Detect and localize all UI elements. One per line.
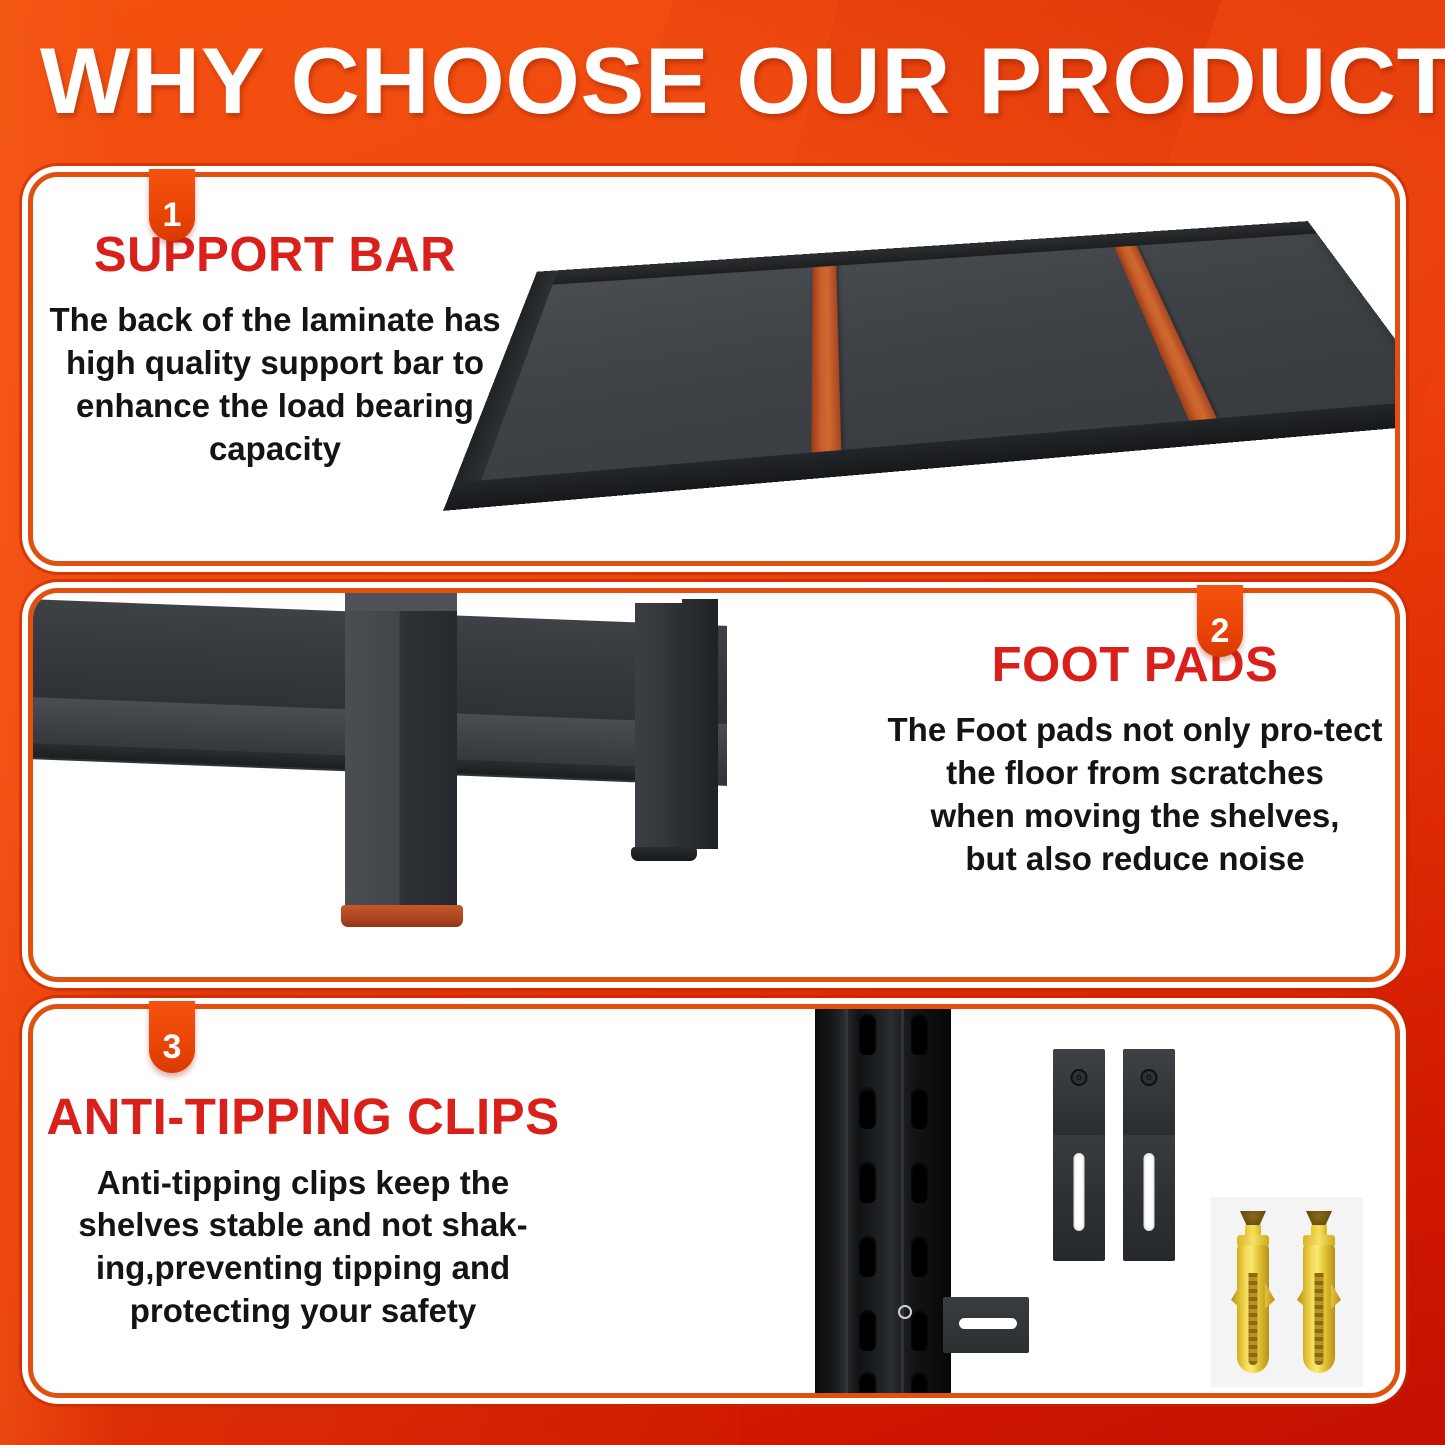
- feature-text-foot-pads: FOOT PADS The Foot pads not only pro-tec…: [855, 640, 1415, 881]
- feature-body-3-line-1: Anti-tipping clips keep the: [78, 1162, 527, 1205]
- anchor-screw-thread: [1315, 1273, 1324, 1365]
- product-image-foot-pads: [33, 593, 827, 977]
- feature-body-1-line-2: high quality support bar to: [49, 342, 500, 385]
- shelf-board-front-lip: [443, 400, 1395, 511]
- foot-pad-front: [341, 905, 463, 927]
- shelf-board: [503, 177, 1395, 561]
- product-image-anti-tipping-clips: [793, 1009, 1395, 1393]
- feature-body-1-line-3: enhance the load bearing: [49, 385, 500, 428]
- post-groove-right: [901, 1009, 904, 1393]
- feature-text-anti-tipping-clips: ANTI-TIPPING CLIPS Anti-tipping clips ke…: [28, 1090, 578, 1333]
- clip-screw-hole-icon: [1071, 1069, 1088, 1086]
- post-slot: [859, 1087, 876, 1129]
- anti-tipping-clip-right: [1123, 1131, 1175, 1261]
- anti-tipping-clip-left: [1053, 1131, 1105, 1261]
- post-slot: [859, 1371, 876, 1393]
- post-slot: [911, 1161, 928, 1203]
- feature-title-3: ANTI-TIPPING CLIPS: [46, 1090, 559, 1144]
- feature-body-3: Anti-tipping clips keep the shelves stab…: [78, 1162, 527, 1334]
- feature-body-2-line-3: when moving the shelves,: [888, 795, 1383, 838]
- feature-body-1: The back of the laminate has high qualit…: [49, 299, 500, 471]
- anchor-wing-left: [1231, 1283, 1241, 1309]
- feature-body-2-line-4: but also reduce noise: [888, 838, 1383, 881]
- feature-body-3-line-3: ing,preventing tipping and: [78, 1247, 527, 1290]
- shelf-leg-back-inner: [682, 599, 718, 849]
- anchor-wing-right: [1265, 1283, 1275, 1309]
- page-title: WHY CHOOSE OUR PRODUCT: [40, 26, 1445, 136]
- feature-title-1: SUPPORT BAR: [94, 230, 456, 281]
- foot-pad-back: [631, 847, 697, 861]
- post-slot: [859, 1309, 876, 1351]
- anchor-screw-thread: [1249, 1273, 1258, 1365]
- feature-text-support-bar: SUPPORT BAR The back of the laminate has…: [40, 230, 510, 471]
- panel-number-badge-2: 2: [1197, 585, 1243, 657]
- shelf-board-surface: [443, 221, 1395, 511]
- post-slot: [911, 1371, 928, 1393]
- feature-body-2-line-2: the floor from scratches: [888, 752, 1383, 795]
- shelf-leg-front-top: [345, 593, 457, 611]
- post-slot: [859, 1161, 876, 1203]
- wall-anchor-group: [1211, 1197, 1363, 1387]
- post-slot: [911, 1087, 928, 1129]
- anchor-wing-right: [1331, 1283, 1341, 1309]
- feature-body-2-line-1: The Foot pads not only pro-tect: [888, 709, 1383, 752]
- post-slot: [911, 1309, 928, 1351]
- anti-tipping-clip-left-tab: [1053, 1049, 1105, 1135]
- shelf-board-back-lip: [531, 221, 1317, 286]
- post-slot: [859, 1235, 876, 1277]
- wall-anchor-right: [1297, 1211, 1341, 1373]
- feature-body-1-line-4: capacity: [49, 428, 500, 471]
- feature-body-3-line-4: protecting your safety: [78, 1290, 527, 1333]
- anti-tipping-clip-right-slot: [1144, 1153, 1155, 1231]
- anti-tipping-clip-right-tab: [1123, 1049, 1175, 1135]
- support-bar-left: [811, 266, 841, 453]
- post-groove-left: [845, 1009, 848, 1393]
- slotted-upright-post: [815, 1009, 951, 1393]
- anti-tipping-clip-left-slot: [1074, 1153, 1085, 1231]
- product-image-support-bar: [503, 177, 1395, 561]
- post-slot: [911, 1235, 928, 1277]
- anchor-wing-left: [1297, 1283, 1307, 1309]
- panel-number-badge-3: 3: [149, 1001, 195, 1073]
- post-slot: [911, 1013, 928, 1055]
- post-slot: [859, 1013, 876, 1055]
- panel-number-badge-1: 1: [149, 169, 195, 241]
- feature-body-3-line-2: shelves stable and not shak-: [78, 1204, 527, 1247]
- anti-tipping-clip-mounted-slot: [959, 1318, 1017, 1329]
- support-bar-right: [1114, 246, 1217, 421]
- post-mounting-hole: [898, 1305, 912, 1319]
- clip-screw-hole-icon: [1141, 1069, 1158, 1086]
- feature-body-2: The Foot pads not only pro-tect the floo…: [888, 709, 1383, 881]
- wall-anchor-left: [1231, 1211, 1275, 1373]
- feature-body-1-line-1: The back of the laminate has: [49, 299, 500, 342]
- shelf-leg-front: [345, 593, 457, 911]
- anti-tipping-clip-mounted: [943, 1297, 1029, 1353]
